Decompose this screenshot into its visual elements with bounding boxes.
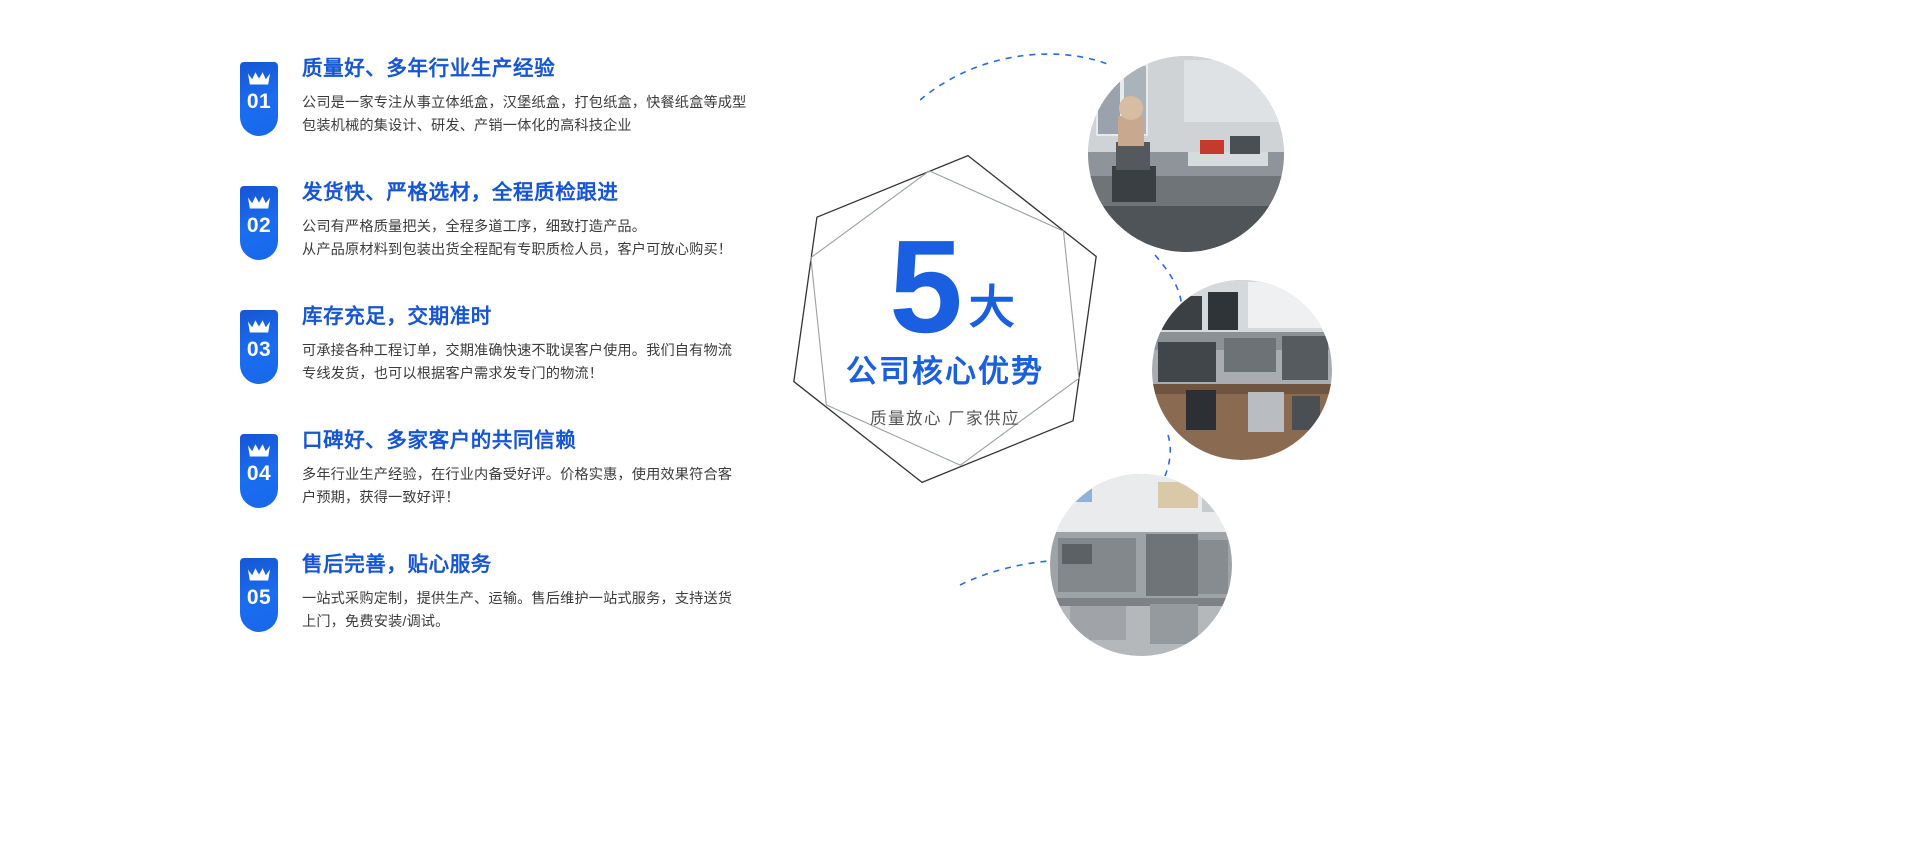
- advantage-number-03: 03: [247, 338, 271, 362]
- advantage-title-03: 库存充足，交期准时: [302, 306, 780, 329]
- advantage-badge-04: 04: [240, 434, 278, 508]
- emblem-text-block: 5 大 公司核心优势 质量放心 厂家供应: [780, 140, 1110, 520]
- advantage-number-04: 04: [247, 462, 271, 486]
- advantage-body-04: 多年行业生产经验，在行业内备受好评。价格实惠，使用效果符合客 户预期，获得一致好…: [302, 464, 780, 510]
- emblem-sub-label: 质量放心 厂家供应: [870, 405, 1020, 429]
- promo-page: 01 质量好、多年行业生产经验 公司是一家专注从事立体纸盒，汉堡纸盒，打包纸盒，…: [0, 0, 1920, 847]
- emblem-main-label: 公司核心优势: [846, 346, 1044, 391]
- advantage-badge-03: 03: [240, 310, 278, 384]
- advantage-item-05[interactable]: 05 售后完善，贴心服务 一站式采购定制，提供生产、运输。售后维护一站式服务，支…: [240, 554, 780, 654]
- advantage-item-02[interactable]: 02 发货快、严格选材，全程质检跟进 公司有严格质量把关，全程多道工序，细致打造…: [240, 182, 780, 282]
- advantage-item-01[interactable]: 01 质量好、多年行业生产经验 公司是一家专注从事立体纸盒，汉堡纸盒，打包纸盒，…: [240, 58, 780, 158]
- advantages-list: 01 质量好、多年行业生产经验 公司是一家专注从事立体纸盒，汉堡纸盒，打包纸盒，…: [240, 52, 780, 678]
- office-interior-photo[interactable]: [1152, 280, 1332, 460]
- emblem-number: 5: [889, 231, 962, 343]
- advantage-body-01: 公司是一家专注从事立体纸盒，汉堡纸盒，打包纸盒，快餐纸盒等成型 包装机械的集设计…: [302, 92, 780, 138]
- advantage-number-02: 02: [247, 214, 271, 238]
- advantage-badge-05: 05: [240, 558, 278, 632]
- photo-artwork: [1152, 280, 1332, 460]
- emblem-unit: 大: [969, 284, 1015, 330]
- advantage-item-04[interactable]: 04 口碑好、多家客户的共同信赖 多年行业生产经验，在行业内备受好评。价格实惠，…: [240, 430, 780, 530]
- crown-icon: [247, 195, 271, 210]
- advantage-body-03: 可承接各种工程订单，交期准确快速不耽误客户使用。我们自有物流 专线发货，也可以根…: [302, 340, 780, 386]
- advantage-title-04: 口碑好、多家客户的共同信赖: [302, 430, 780, 453]
- advantage-title-02: 发货快、严格选材，全程质检跟进: [302, 182, 780, 205]
- advantage-number-05: 05: [247, 586, 271, 610]
- crown-icon: [247, 71, 271, 86]
- advantage-body-05: 一站式采购定制，提供生产、运输。售后维护一站式服务，支持送货 上门，免费安装/调…: [302, 588, 780, 634]
- photo-artwork: [1050, 474, 1232, 656]
- crown-icon: [247, 319, 271, 334]
- advantage-item-03[interactable]: 03 库存充足，交期准时 可承接各种工程订单，交期准确快速不耽误客户使用。我们自…: [240, 306, 780, 406]
- photo-artwork: [1088, 56, 1284, 252]
- advantage-badge-02: 02: [240, 186, 278, 260]
- office-workstation-photo[interactable]: [1088, 56, 1284, 252]
- advantage-title-01: 质量好、多年行业生产经验: [302, 58, 780, 81]
- advantage-badge-01: 01: [240, 62, 278, 136]
- advantage-body-02: 公司有严格质量把关，全程多道工序，细致打造产品。 从产品原材料到包装出货全程配有…: [302, 216, 780, 262]
- crown-icon: [247, 443, 271, 458]
- advantage-number-01: 01: [247, 90, 271, 114]
- emblem-number-row: 5 大: [889, 231, 1014, 343]
- crown-icon: [247, 567, 271, 582]
- core-advantage-emblem: 5 大 公司核心优势 质量放心 厂家供应: [780, 140, 1110, 520]
- advantage-title-05: 售后完善，贴心服务: [302, 554, 780, 577]
- production-machine-photo[interactable]: [1050, 474, 1232, 656]
